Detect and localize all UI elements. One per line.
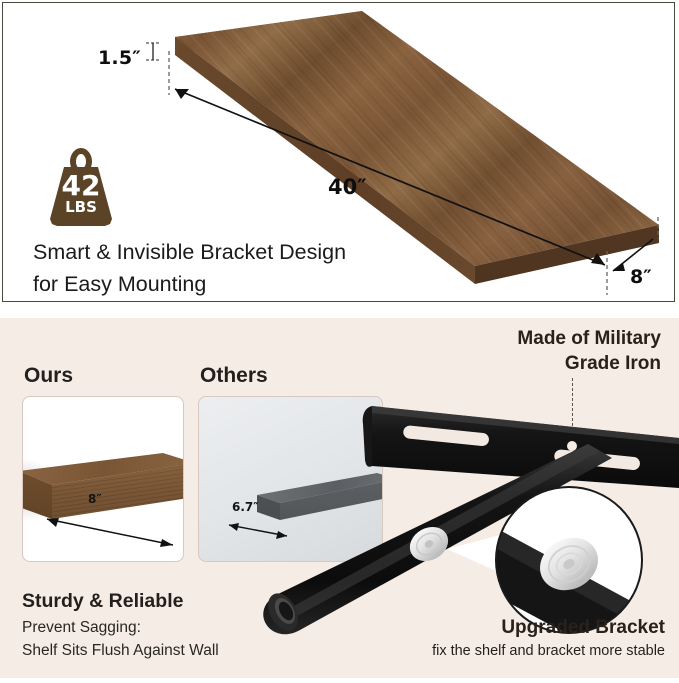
military-grade-callout-line [572,378,573,426]
upgraded-bracket-subtitle: fix the shelf and bracket more stable [432,643,665,659]
others-heading: Others [200,364,268,388]
military-grade-title: Made of Military Grade Iron [401,326,661,376]
others-measure-arrow [199,397,383,562]
dimension-thickness-label: 1.5″ [98,47,141,69]
sturdy-title: Sturdy & Reliable [22,590,183,613]
sturdy-subtitle-line2: Shelf Sits Flush Against Wall [22,639,219,662]
weight-capacity-icon: 42 LBS [50,148,112,226]
hero-caption: Smart & Invisible Bracket Design for Eas… [33,236,346,300]
military-grade-line2: Grade Iron [401,351,661,376]
hero-panel: 1.5″ 40″ 8″ 42 LBS Smart & Invisible Bra… [2,2,675,302]
sturdy-subtitle-line1: Prevent Sagging: [22,616,219,639]
sturdy-subtitle: Prevent Sagging: Shelf Sits Flush Agains… [22,616,219,662]
others-comparison-card [198,396,383,562]
dimension-length-label: 40″ [328,175,367,199]
hero-caption-line1: Smart & Invisible Bracket Design [33,236,346,268]
military-grade-line1: Made of Military [401,326,661,351]
ours-measure-label: 8″ [88,492,102,506]
hero-caption-line2: for Easy Mounting [33,268,346,300]
weight-unit: LBS [50,200,112,215]
dimension-depth-label: 8″ [630,266,652,288]
ours-heading: Ours [24,364,73,388]
upgraded-bracket-title: Upgraded Bracket [501,617,665,639]
ours-measure-arrow [23,397,184,562]
ours-comparison-card [22,396,184,562]
others-measure-label: 6.7″ [232,500,259,514]
weight-value: 42 [50,172,112,200]
